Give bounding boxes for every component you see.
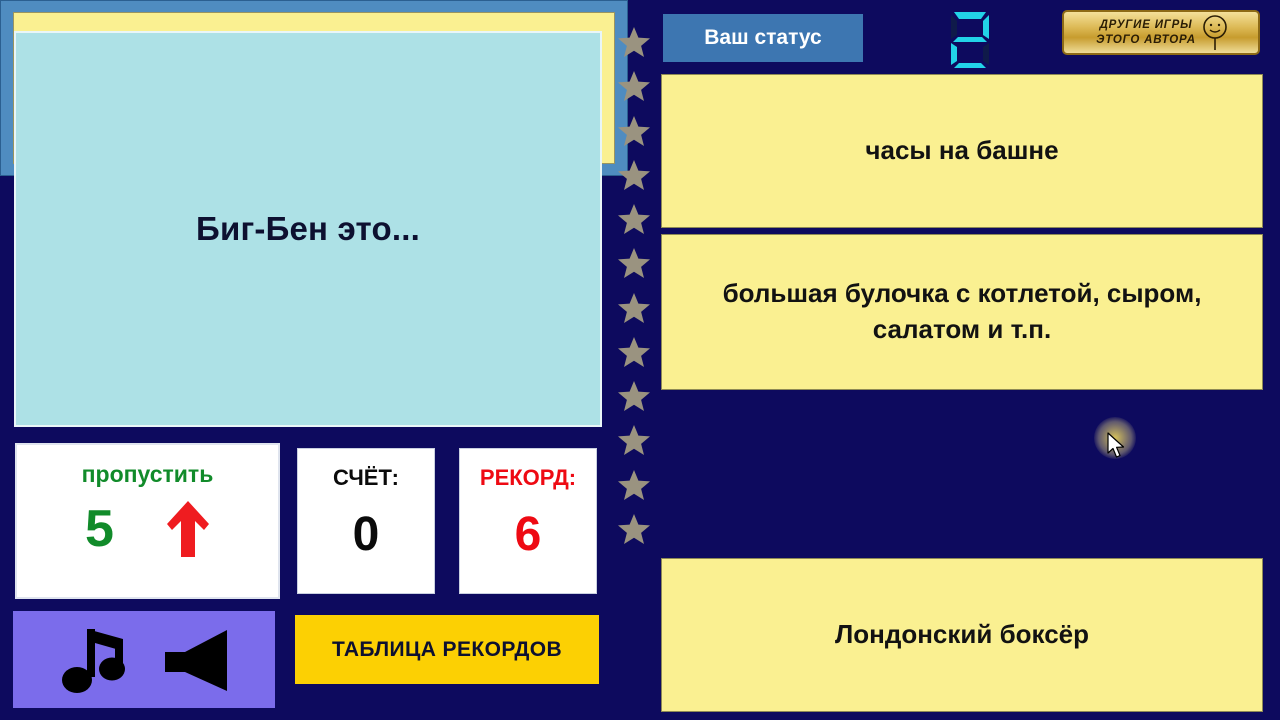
quiz-game-screen: Биг-Бен это... пропустить 5 СЧЁТ: 0 РЕКО…: [0, 0, 1280, 720]
record-value: 6: [515, 511, 542, 559]
star-icon: [617, 70, 651, 103]
segment-middle: [953, 37, 987, 42]
answer-option-2-text: большая булочка с котлетой, сыром, салат…: [662, 276, 1262, 348]
segment-bottom-right: [983, 43, 989, 65]
status-label: Ваш статус: [704, 26, 821, 50]
record-box: РЕКОРД: 6: [459, 448, 597, 594]
answer-option-1-text: часы на башне: [841, 133, 1082, 169]
music-note-icon[interactable]: [57, 625, 133, 695]
skip-count: 5: [85, 503, 114, 555]
other-games-by-author-banner[interactable]: ДРУГИЕ ИГРЫ ЭТОГО АВТОРА: [1062, 10, 1260, 55]
smiley-face-icon: [1200, 15, 1230, 51]
star-icon: [617, 424, 651, 457]
segment-top-right: [983, 15, 989, 39]
segment-bottom-left: [951, 43, 957, 65]
star-icon: [617, 115, 651, 148]
score-label: СЧЁТ:: [333, 465, 399, 491]
speaker-icon[interactable]: [159, 627, 231, 693]
skip-row: 5: [17, 500, 278, 558]
star-icon: [617, 292, 651, 325]
author-banner-label: ДРУГИЕ ИГРЫ ЭТОГО АВТОРА: [1092, 18, 1196, 47]
star-icon: [617, 26, 651, 59]
answer-option-2[interactable]: большая булочка с котлетой, сыром, салат…: [661, 234, 1263, 390]
your-status-button[interactable]: Ваш статус: [663, 14, 863, 62]
star-icon: [617, 469, 651, 502]
skip-panel[interactable]: пропустить 5: [15, 443, 280, 599]
cursor-hover-glow: [1094, 417, 1136, 459]
up-arrow-icon[interactable]: [166, 500, 210, 558]
segment-top: [954, 12, 986, 19]
question-panel: Биг-Бен это...: [14, 31, 602, 427]
question-text: Биг-Бен это...: [176, 208, 440, 249]
star-icon: [617, 159, 651, 192]
segment-bottom: [954, 63, 986, 68]
highscore-label: ТАБЛИЦА РЕКОРДОВ: [332, 638, 562, 662]
answer-option-4-text: Лондонский боксёр: [811, 617, 1113, 653]
segment-top-left: [951, 15, 957, 39]
sound-toggle-button[interactable]: [13, 611, 275, 708]
skip-label: пропустить: [82, 461, 214, 488]
star-icon: [617, 247, 651, 280]
answer-option-1[interactable]: часы на башне: [661, 74, 1263, 228]
mouse-pointer-icon: [1107, 432, 1126, 459]
seven-segment-digit-display: [944, 9, 996, 71]
answer-option-4[interactable]: Лондонский боксёр: [661, 558, 1263, 712]
highscore-table-button[interactable]: ТАБЛИЦА РЕКОРДОВ: [295, 615, 599, 684]
star-icon: [617, 336, 651, 369]
star-icon: [617, 203, 651, 236]
score-value: 0: [353, 511, 380, 559]
star-icon: [617, 380, 651, 413]
score-box: СЧЁТ: 0: [297, 448, 435, 594]
record-label: РЕКОРД:: [480, 465, 576, 491]
star-icon: [617, 513, 651, 546]
star-column: [613, 26, 655, 546]
